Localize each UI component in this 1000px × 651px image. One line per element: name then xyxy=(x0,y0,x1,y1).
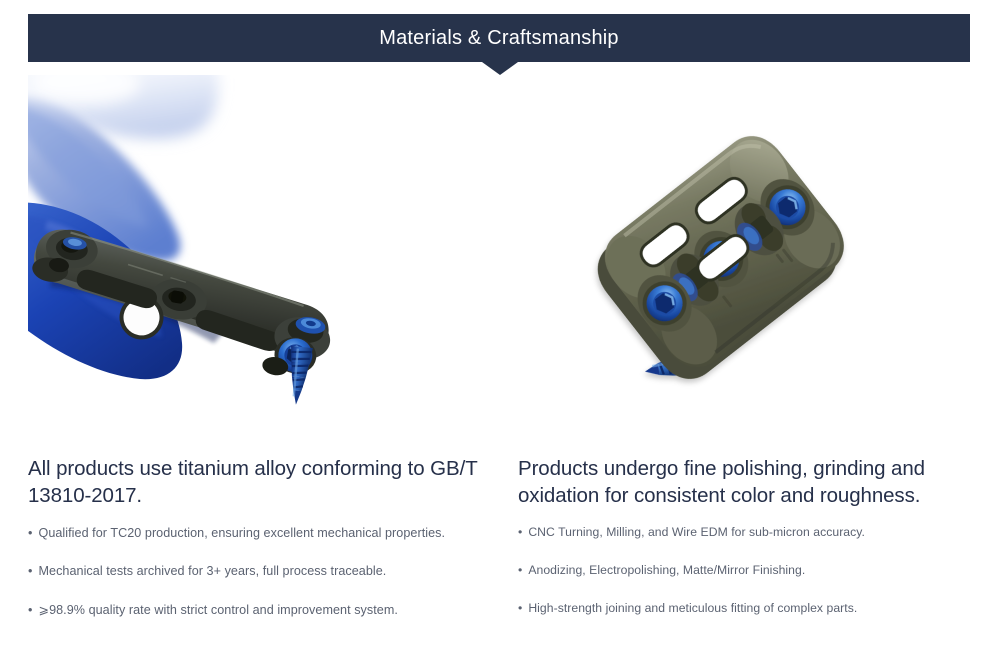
list-item: • Mechanical tests archived for 3+ years… xyxy=(28,563,498,579)
column-heading-craftsmanship: Products undergo fine polishing, grindin… xyxy=(518,455,974,509)
bullet-dot-icon: • xyxy=(518,525,522,541)
page-root: Materials & Craftsmanship xyxy=(0,0,1000,651)
bullet-text: ⩾98.9% quality rate with strict control … xyxy=(38,602,397,618)
bullet-text: CNC Turning, Milling, and Wire EDM for s… xyxy=(528,525,865,541)
list-item: • High-strength joining and meticulous f… xyxy=(518,601,974,617)
section-header-banner: Materials & Craftsmanship xyxy=(28,14,970,62)
bullet-dot-icon: • xyxy=(518,563,522,579)
bullet-text: Qualified for TC20 production, ensuring … xyxy=(38,525,445,541)
column-craftsmanship: Products undergo fine polishing, grindin… xyxy=(512,455,1000,618)
column-materials: All products use titanium alloy conformi… xyxy=(0,455,512,618)
product-photo-row xyxy=(0,75,1000,430)
banner-notch-triangle xyxy=(482,62,518,75)
bullet-dot-icon: • xyxy=(518,601,522,617)
titanium-plate-illustration xyxy=(588,97,896,409)
bullet-text: High-strength joining and meticulous fit… xyxy=(528,601,857,617)
gloved-hand-plate-illustration xyxy=(28,75,388,423)
list-item: • Anodizing, Electropolishing, Matte/Mir… xyxy=(518,563,974,579)
list-item: • CNC Turning, Milling, and Wire EDM for… xyxy=(518,525,974,541)
bullet-text: Mechanical tests archived for 3+ years, … xyxy=(38,563,386,579)
photo-gloved-hand-holding-plate xyxy=(28,75,388,423)
page-title: Materials & Craftsmanship xyxy=(379,28,619,48)
bullet-text: Anodizing, Electropolishing, Matte/Mirro… xyxy=(528,563,805,579)
bullet-dot-icon: • xyxy=(28,602,32,618)
bullet-list-craftsmanship: • CNC Turning, Milling, and Wire EDM for… xyxy=(518,525,974,617)
bullet-list-materials: • Qualified for TC20 production, ensurin… xyxy=(28,525,498,618)
bullet-dot-icon: • xyxy=(28,525,32,541)
feature-columns: All products use titanium alloy conformi… xyxy=(0,455,1000,618)
list-item: • ⩾98.9% quality rate with strict contro… xyxy=(28,602,498,618)
bullet-dot-icon: • xyxy=(28,563,32,579)
column-heading-materials: All products use titanium alloy conformi… xyxy=(28,455,498,509)
list-item: • Qualified for TC20 production, ensurin… xyxy=(28,525,498,541)
photo-titanium-plate-product xyxy=(588,97,896,409)
